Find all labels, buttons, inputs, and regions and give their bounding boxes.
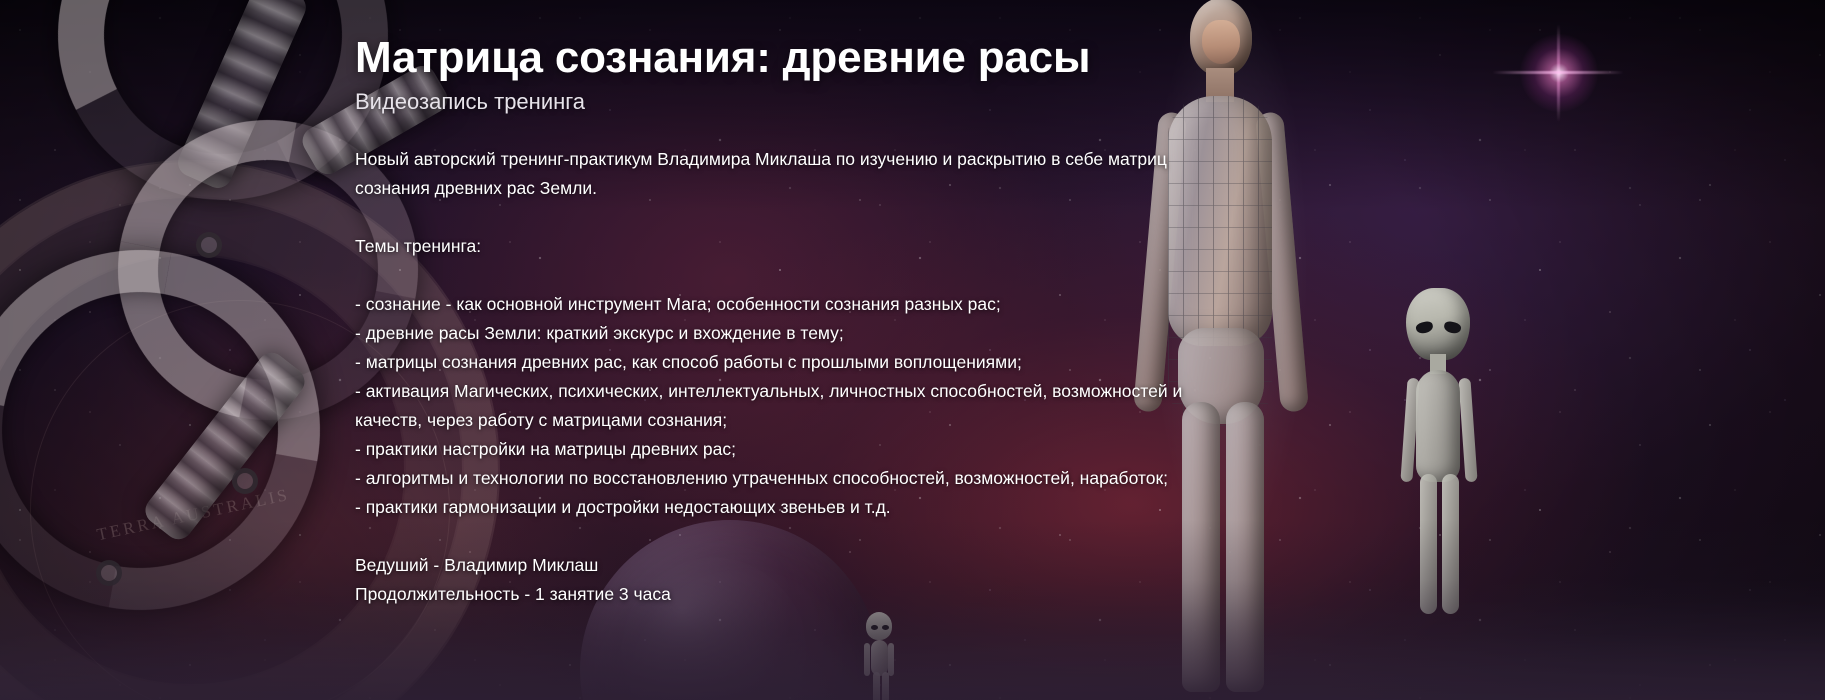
list-item: - сознание - как основной инструмент Маг… (355, 290, 1185, 319)
details-block: Ведуший - Владимир Миклаш Продолжительно… (355, 551, 1355, 609)
topics-list: - сознание - как основной инструмент Маг… (355, 290, 1185, 522)
spacer (355, 203, 1185, 232)
star-flare-icon (1558, 72, 1560, 74)
tentacle-port-1 (196, 232, 222, 258)
page-title: Матрица сознания: древние расы (355, 0, 1355, 83)
tentacle-port-2 (232, 468, 258, 494)
promo-banner: TERRA AUSTRALIS (0, 0, 1825, 700)
alien-head (1406, 288, 1470, 360)
duration-line: Продолжительность - 1 занятие 3 часа (355, 580, 1355, 609)
intro-paragraph: Новый авторский тренинг-практикум Владим… (355, 145, 1185, 203)
host-line: Ведуший - Владимир Миклаш (355, 551, 1355, 580)
list-item: - активация Магических, психических, инт… (355, 377, 1185, 435)
alien-arm-right (1458, 378, 1477, 483)
page-subtitle: Видеозапись тренинга (355, 89, 1355, 115)
list-item: - практики настройки на матрицы древних … (355, 435, 1185, 464)
list-item: - практики гармонизации и достройки недо… (355, 493, 1185, 522)
list-item: - древние расы Земли: краткий экскурс и … (355, 319, 1185, 348)
list-item: - алгоритмы и технологии по восстановлен… (355, 464, 1185, 493)
description-block: Новый авторский тренинг-практикум Владим… (355, 145, 1185, 522)
banner-content: Матрица сознания: древние расы Видеозапи… (355, 0, 1355, 609)
spacer (355, 261, 1185, 290)
alien-torso (1416, 370, 1460, 482)
list-item: - матрицы сознания древних рас, как спос… (355, 348, 1185, 377)
topics-label: Темы тренинга: (355, 232, 1185, 261)
